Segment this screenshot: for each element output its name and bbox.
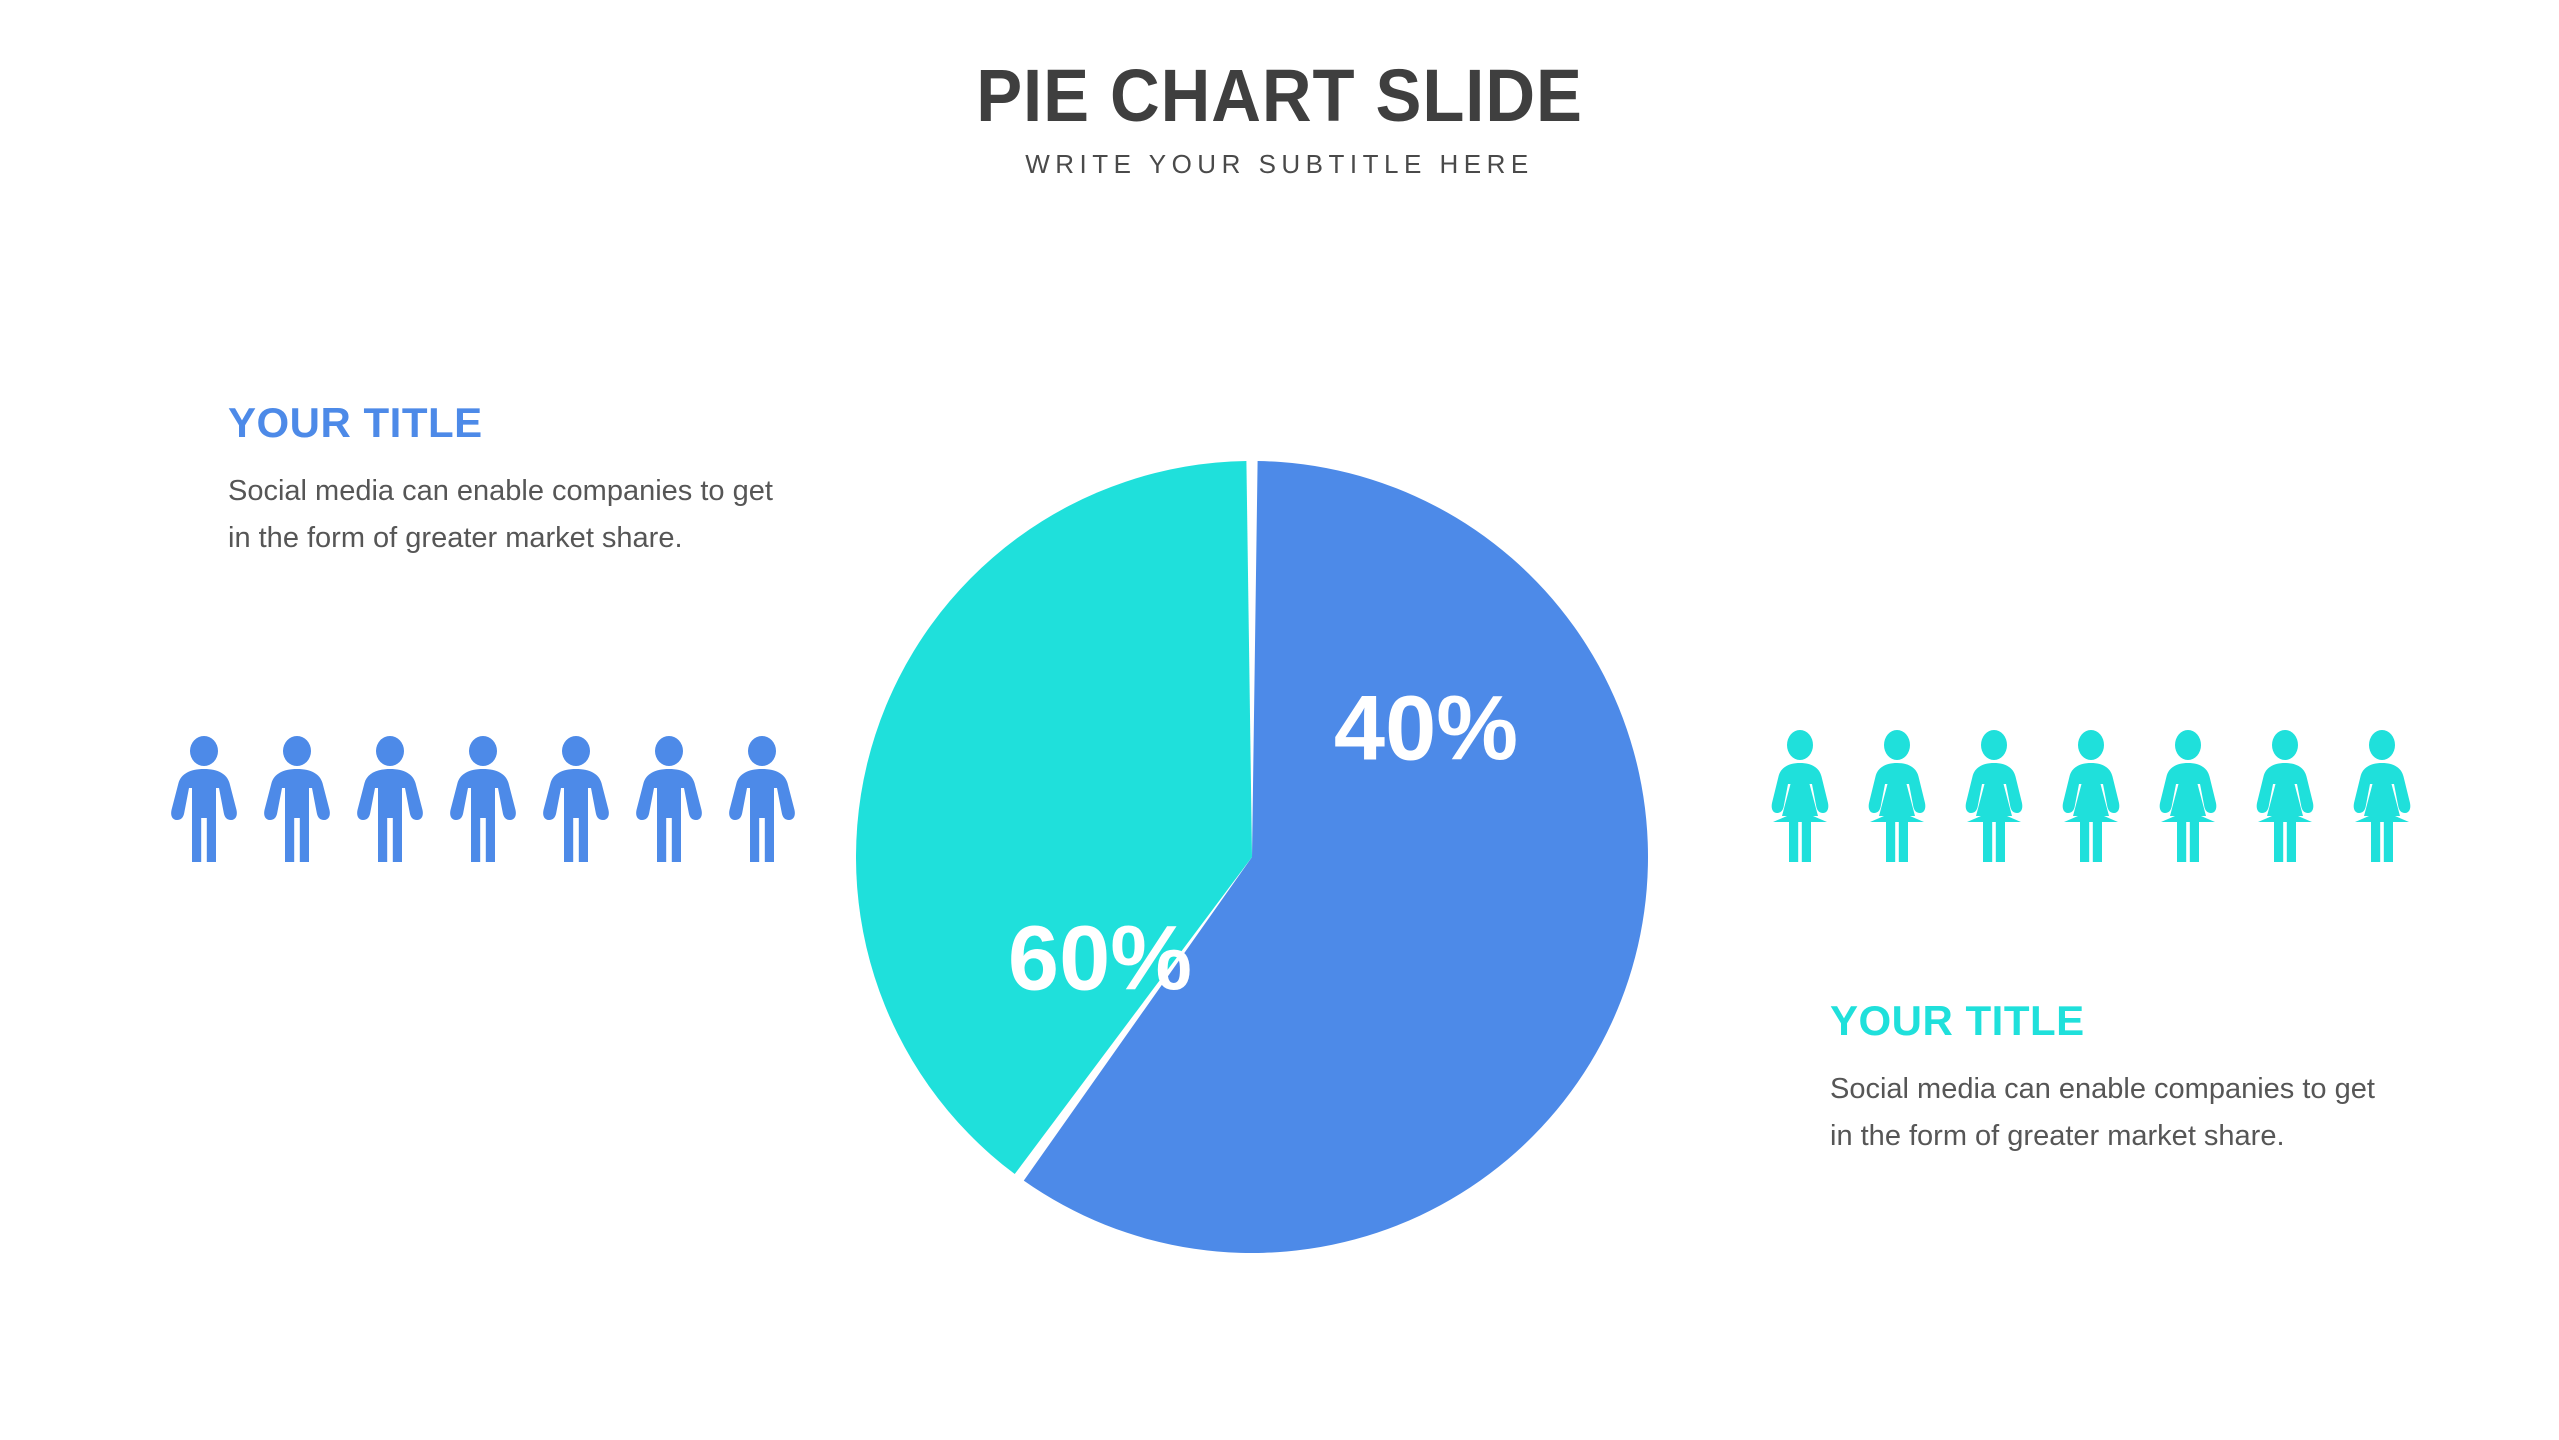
person-male-icon — [354, 736, 426, 864]
person-female-icon — [1962, 730, 2026, 864]
person-male-icon — [540, 736, 612, 864]
pie-slice-label-60: 60% — [1008, 907, 1192, 1009]
slide-header: PIE CHART SLIDE WRITE YOUR SUBTITLE HERE — [0, 58, 2559, 180]
left-block-body: Social media can enable companies to get… — [228, 468, 788, 562]
person-male-icon — [726, 736, 798, 864]
page-subtitle: WRITE YOUR SUBTITLE HERE — [0, 149, 2559, 180]
right-block-title: YOUR TITLE — [1830, 1000, 2390, 1042]
people-row-right — [1768, 730, 2447, 864]
person-female-icon — [2059, 730, 2123, 864]
left-block-title: YOUR TITLE — [228, 402, 788, 444]
person-male-icon — [261, 736, 333, 864]
pie-chart: 60% 40% — [856, 461, 1648, 1253]
person-male-icon — [633, 736, 705, 864]
person-female-icon — [1865, 730, 1929, 864]
person-male-icon — [168, 736, 240, 864]
left-text-block: YOUR TITLE Social media can enable compa… — [228, 402, 788, 562]
page-title: PIE CHART SLIDE — [90, 58, 2470, 133]
right-text-block: YOUR TITLE Social media can enable compa… — [1830, 1000, 2390, 1160]
person-male-icon — [447, 736, 519, 864]
person-female-icon — [2156, 730, 2220, 864]
person-female-icon — [2253, 730, 2317, 864]
pie-slice-label-40: 40% — [1334, 677, 1518, 779]
people-row-left — [168, 736, 819, 864]
person-female-icon — [2350, 730, 2414, 864]
person-female-icon — [1768, 730, 1832, 864]
right-block-body: Social media can enable companies to get… — [1830, 1066, 2390, 1160]
